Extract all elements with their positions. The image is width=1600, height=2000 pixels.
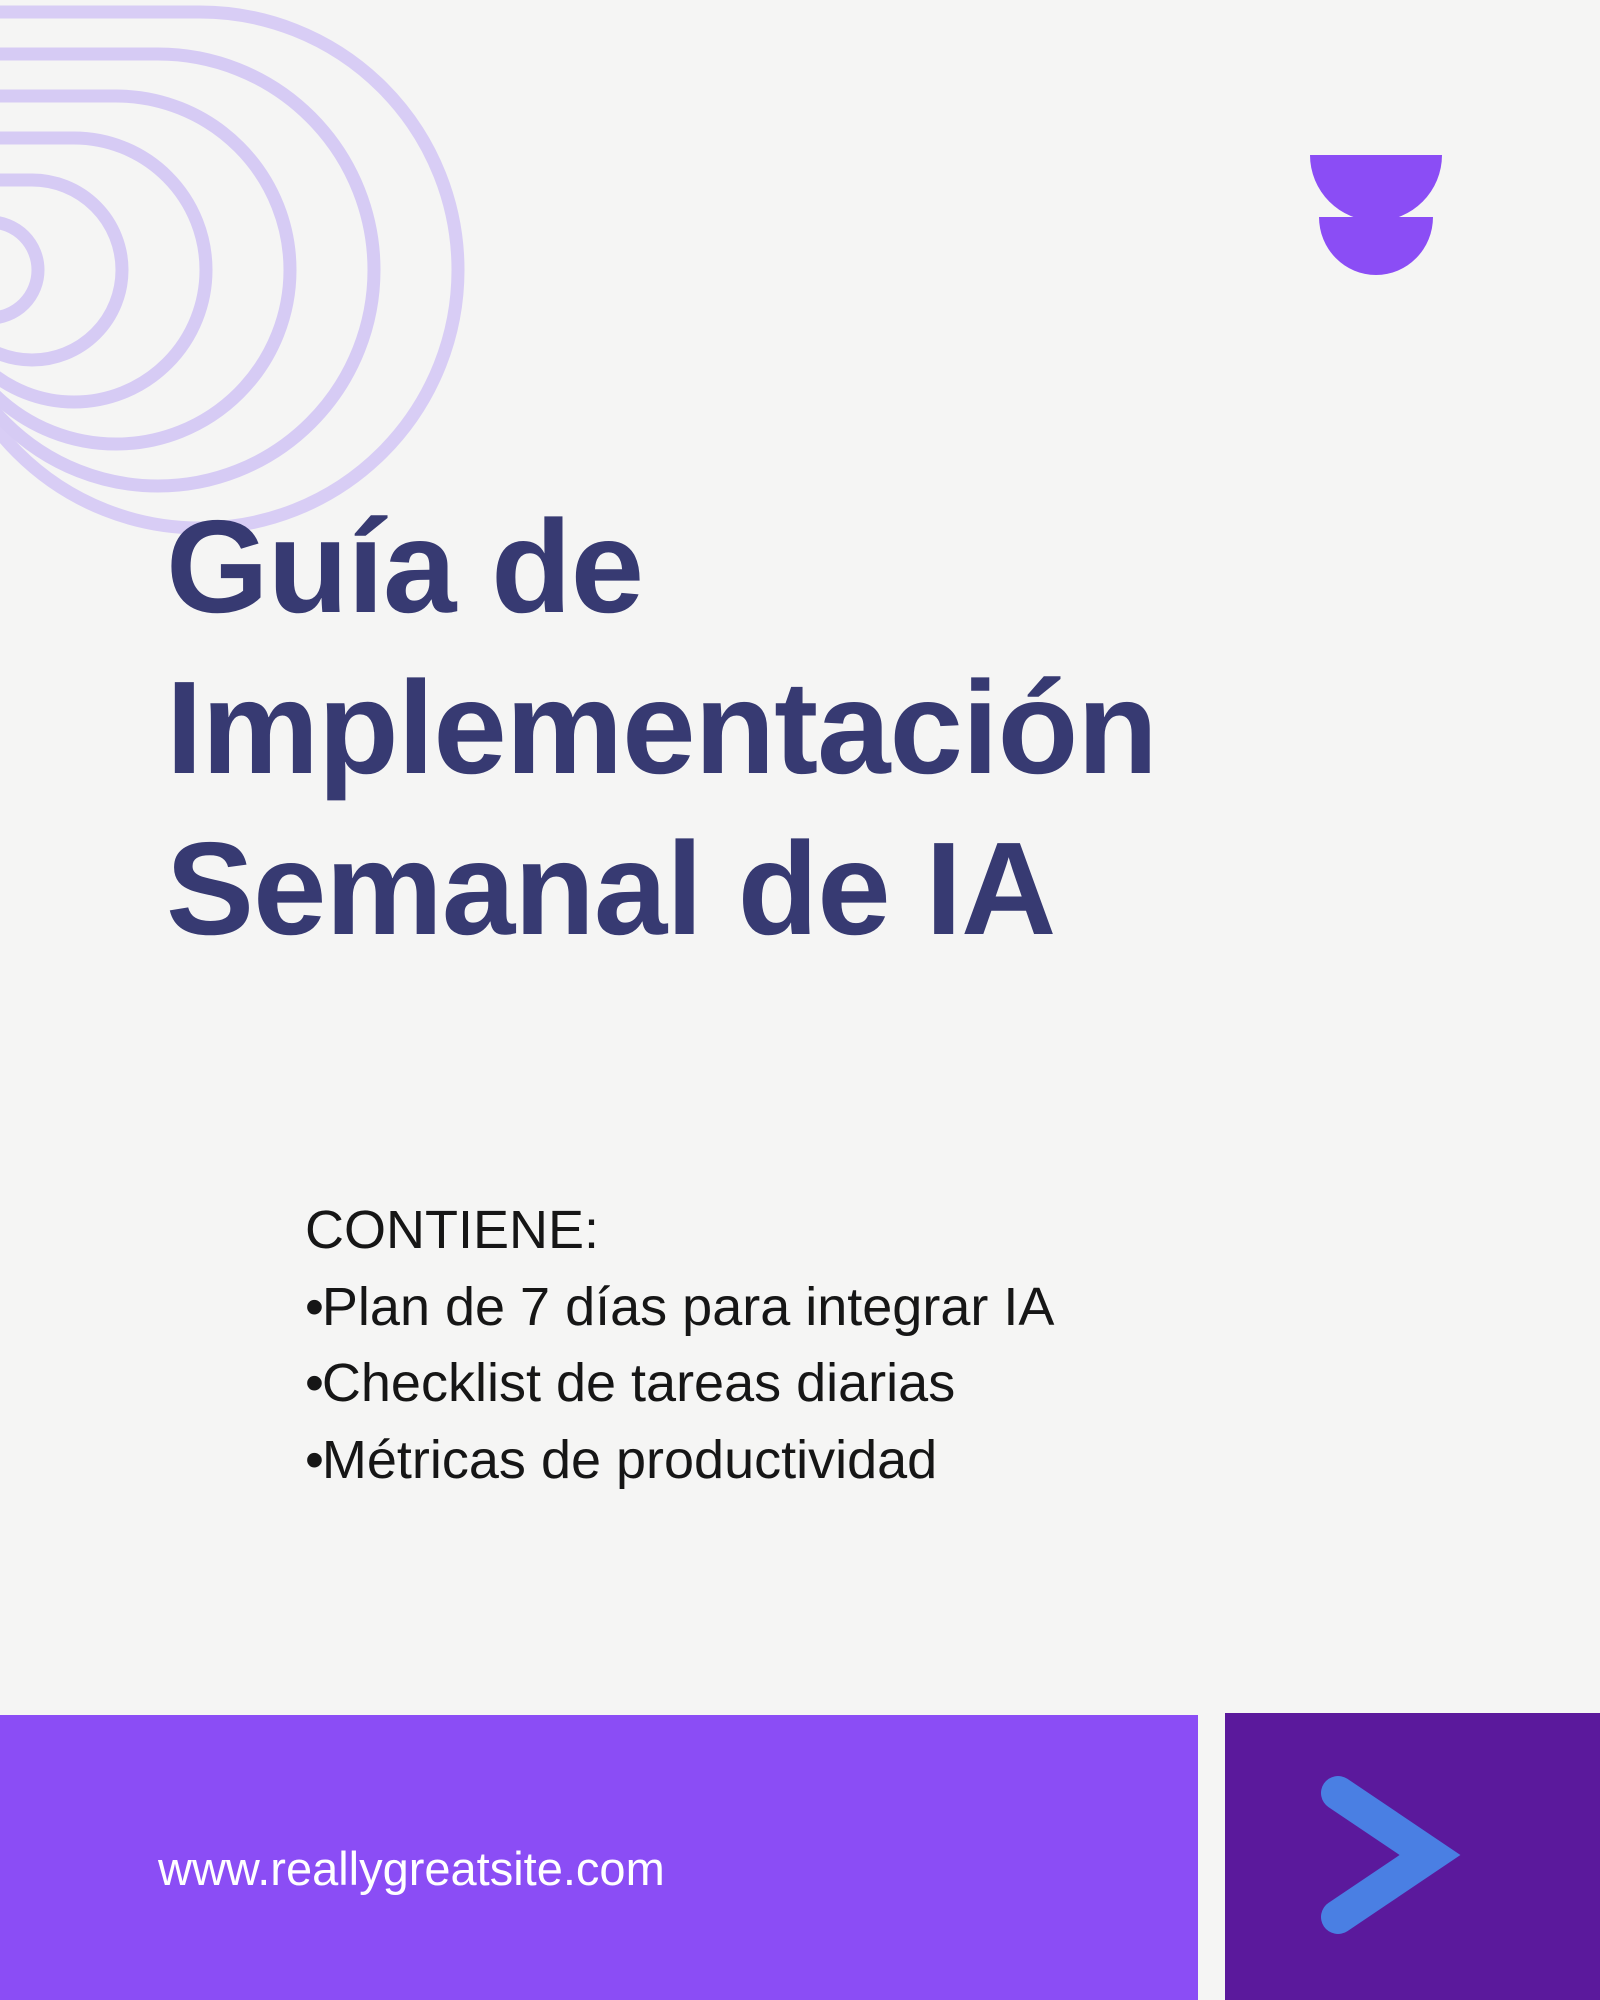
bullet-glyph: • xyxy=(305,1430,322,1490)
list-item-label: Checklist de tareas diarias xyxy=(322,1353,955,1413)
list-item: •Plan de 7 días para integrar IA xyxy=(305,1269,1405,1346)
list-item: •Métricas de productividad xyxy=(305,1422,1405,1499)
logo-bowl-bottom xyxy=(1319,217,1433,275)
contents-list: •Plan de 7 días para integrar IA •Checkl… xyxy=(305,1269,1405,1499)
list-item-label: Plan de 7 días para integrar IA xyxy=(322,1277,1054,1337)
chevron-right-icon[interactable] xyxy=(1312,1775,1462,1935)
list-item: •Checklist de tareas diarias xyxy=(305,1345,1405,1422)
title-line-1: Guía de xyxy=(166,486,1486,647)
contents-label: CONTIENE: xyxy=(305,1192,1405,1269)
bullet-glyph: • xyxy=(305,1353,322,1413)
double-bowl-logo xyxy=(1305,155,1445,275)
logo-bowl-top xyxy=(1310,155,1442,221)
website-url[interactable]: www.reallygreatsite.com xyxy=(158,1841,665,1896)
list-item-label: Métricas de productividad xyxy=(322,1430,937,1490)
bullet-glyph: • xyxy=(305,1277,322,1337)
concentric-d-rings-decoration xyxy=(0,0,560,560)
title-line-3: Semanal de IA xyxy=(166,808,1486,969)
title-line-2: Implementación xyxy=(166,647,1486,808)
contents-block: CONTIENE: •Plan de 7 días para integrar … xyxy=(305,1192,1405,1499)
page-title: Guía de Implementación Semanal de IA xyxy=(166,486,1486,969)
